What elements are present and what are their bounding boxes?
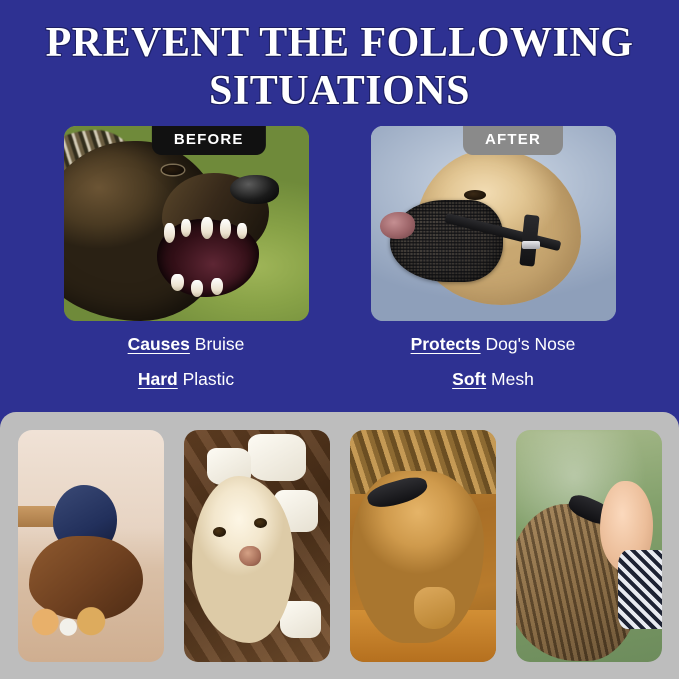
mesh-muzzle-shape [390, 200, 503, 282]
after-photo-scene [371, 126, 616, 321]
dog-lower-tooth-shape [211, 278, 223, 296]
after-caption-1-normal: Dog's Nose [485, 334, 575, 354]
gallery-scene-shredded-paper [184, 430, 330, 662]
before-badge: BEFORE [152, 126, 266, 155]
before-caption-2-strong: Hard [138, 369, 178, 389]
plaid-sleeve-shape [618, 550, 662, 629]
dog-eye-shape [464, 190, 486, 200]
muzzle-buckle-shape [522, 241, 539, 249]
gallery-scene-dog-with-child [516, 430, 662, 662]
gallery-card [350, 430, 496, 662]
infographic-poster: PREVENT THE FOLLOWING SITUATIONS [0, 0, 679, 679]
after-caption-line-1: Protects Dog's Nose [411, 336, 576, 354]
before-photo: BEFORE [64, 126, 309, 321]
scattered-trash-shape [26, 601, 114, 643]
dog-paw-shape [414, 587, 455, 629]
comparison-column-before: BEFORE Causes Bruise Hard Plastic [64, 126, 309, 389]
after-badge: AFTER [463, 126, 563, 155]
photo-gallery-strip [0, 412, 679, 679]
page-title-line-2: SITUATIONS [30, 68, 649, 116]
after-photo: AFTER [371, 126, 616, 321]
after-caption-line-2: Soft Mesh [411, 371, 576, 389]
before-caption-line-2: Hard Plastic [128, 371, 245, 389]
after-captions: Protects Dog's Nose Soft Mesh [411, 336, 576, 389]
before-caption-2-normal: Plastic [183, 369, 235, 389]
dog-eye-shape [254, 518, 267, 528]
page-title-line-1: PREVENT THE FOLLOWING [30, 20, 649, 68]
before-caption-line-1: Causes Bruise [128, 336, 245, 354]
before-caption-1-normal: Bruise [195, 334, 245, 354]
gallery-scene-dog-licking-paw [350, 430, 496, 662]
dog-fang-shape [164, 223, 175, 243]
page-title: PREVENT THE FOLLOWING SITUATIONS [0, 0, 679, 120]
dog-nose-shape [239, 546, 261, 567]
before-caption-1-strong: Causes [128, 334, 190, 354]
gallery-card [516, 430, 662, 662]
shredded-paper-shape [248, 434, 306, 480]
comparison-column-after: AFTER Protects Dog's Nose Soft Mesh [371, 126, 616, 389]
dog-nose-shape [380, 212, 414, 239]
before-photo-scene [64, 126, 309, 321]
after-caption-2-normal: Mesh [491, 369, 534, 389]
gallery-scene-destroyed-trash [18, 430, 164, 662]
dog-nose-shape [230, 175, 279, 204]
gallery-card [184, 430, 330, 662]
after-caption-2-strong: Soft [452, 369, 486, 389]
dog-fang-shape [181, 219, 191, 237]
after-caption-1-strong: Protects [411, 334, 481, 354]
comparison-row: BEFORE Causes Bruise Hard Plastic [0, 126, 679, 389]
gallery-card [18, 430, 164, 662]
dog-eye-shape [162, 165, 184, 176]
dog-fang-shape [201, 217, 213, 238]
kitchen-counter-shape [18, 506, 56, 527]
dog-lower-tooth-shape [171, 274, 183, 292]
before-captions: Causes Bruise Hard Plastic [128, 336, 245, 389]
